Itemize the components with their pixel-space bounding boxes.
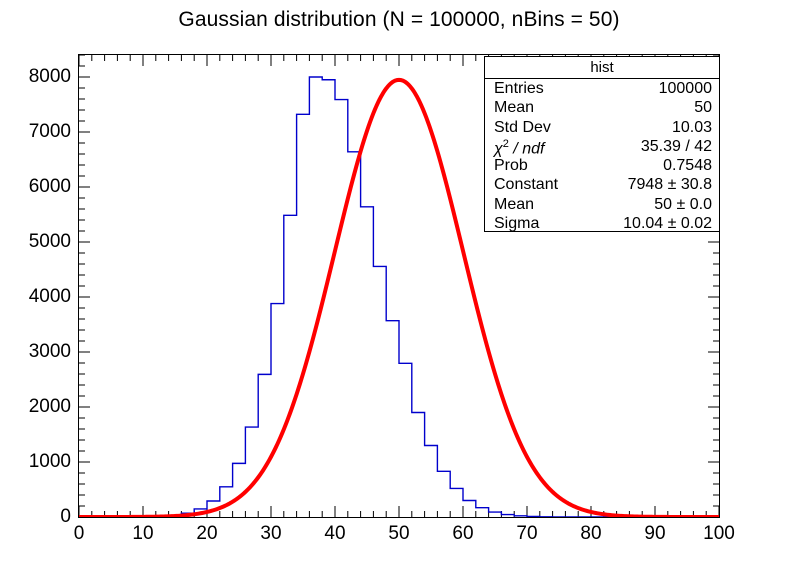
x-axis-label: 10 bbox=[132, 523, 153, 545]
stats-row-key: Prob bbox=[494, 156, 528, 175]
stats-row: Sigma10.04 ± 0.02 bbox=[485, 214, 719, 233]
x-axis-label: 40 bbox=[324, 523, 345, 545]
stats-row: Prob0.7548 bbox=[485, 156, 719, 175]
x-axis-label: 100 bbox=[703, 523, 735, 545]
stats-row: Mean50 bbox=[485, 98, 719, 117]
y-axis-label: 6000 bbox=[29, 176, 71, 198]
stats-row-value: 50 bbox=[694, 98, 712, 117]
stats-row-key: χ2 / ndf bbox=[494, 135, 544, 159]
x-axis-label: 30 bbox=[260, 523, 281, 545]
x-axis-label: 20 bbox=[196, 523, 217, 545]
stats-row-value: 10.03 bbox=[672, 118, 712, 137]
y-axis-tick-labels: 010002000300040005000600070008000 bbox=[0, 54, 71, 518]
stats-row-value: 10.04 ± 0.02 bbox=[623, 214, 712, 233]
y-axis-label: 4000 bbox=[29, 286, 71, 308]
stats-row-key: Entries bbox=[494, 79, 544, 98]
y-axis-label: 2000 bbox=[29, 396, 71, 418]
y-axis-label: 3000 bbox=[29, 341, 71, 363]
y-axis-label: 1000 bbox=[29, 451, 71, 473]
stats-row: Entries100000 bbox=[485, 79, 719, 98]
stats-box-title: hist bbox=[485, 57, 719, 79]
stats-row-value: 7948 ± 30.8 bbox=[628, 175, 712, 194]
page-title: Gaussian distribution (N = 100000, nBins… bbox=[0, 8, 798, 32]
stats-row-value: 35.39 / 42 bbox=[641, 137, 712, 156]
x-axis-label: 0 bbox=[74, 523, 85, 545]
stats-row: Constant7948 ± 30.8 bbox=[485, 175, 719, 194]
stats-row-key: Constant bbox=[494, 175, 558, 194]
stats-row-value: 0.7548 bbox=[663, 156, 712, 175]
y-axis-label: 0 bbox=[60, 506, 71, 528]
stats-row-value: 50 ± 0.0 bbox=[654, 195, 712, 214]
stats-rows: Entries100000Mean50Std Dev10.03χ2 / ndf3… bbox=[485, 79, 719, 233]
x-axis-label: 60 bbox=[452, 523, 473, 545]
statistics-box[interactable]: hist Entries100000Mean50Std Dev10.03χ2 /… bbox=[484, 56, 720, 232]
y-axis-label: 7000 bbox=[29, 121, 71, 143]
stats-row-key: Mean bbox=[494, 195, 534, 214]
x-axis-label: 50 bbox=[388, 523, 409, 545]
y-axis-label: 5000 bbox=[29, 231, 71, 253]
stats-row-value: 100000 bbox=[659, 79, 712, 98]
x-axis-tick-labels: 0102030405060708090100 bbox=[78, 523, 720, 553]
stats-row: Mean50 ± 0.0 bbox=[485, 195, 719, 214]
x-axis-label: 70 bbox=[516, 523, 537, 545]
stats-row-key: Mean bbox=[494, 98, 534, 117]
x-axis-label: 80 bbox=[580, 523, 601, 545]
y-axis-label: 8000 bbox=[29, 66, 71, 88]
root-canvas: Gaussian distribution (N = 100000, nBins… bbox=[0, 0, 798, 576]
x-axis-label: 90 bbox=[644, 523, 665, 545]
stats-row-key: Sigma bbox=[494, 214, 539, 233]
stats-row: χ2 / ndf35.39 / 42 bbox=[485, 137, 719, 156]
